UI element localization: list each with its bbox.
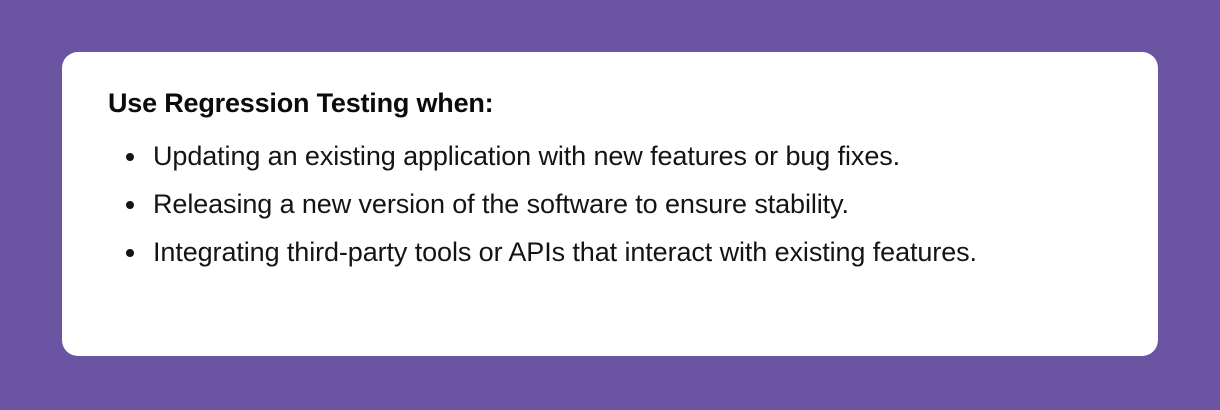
list-item-label: Updating an existing application with ne… [153,141,900,171]
list-item: Integrating third-party tools or APIs th… [108,228,1112,276]
slide-canvas: Use Regression Testing when: Updating an… [0,0,1220,410]
card-heading: Use Regression Testing when: [108,86,1112,120]
content-card: Use Regression Testing when: Updating an… [62,52,1158,356]
bullet-dot-icon [126,153,134,161]
list-item-label: Releasing a new version of the software … [153,189,849,219]
bullet-list: Updating an existing application with ne… [108,132,1112,276]
list-item-label: Integrating third-party tools or APIs th… [153,237,977,267]
list-item: Updating an existing application with ne… [108,132,1112,180]
list-item: Releasing a new version of the software … [108,180,1112,228]
bullet-dot-icon [126,201,134,209]
bullet-dot-icon [126,249,134,257]
